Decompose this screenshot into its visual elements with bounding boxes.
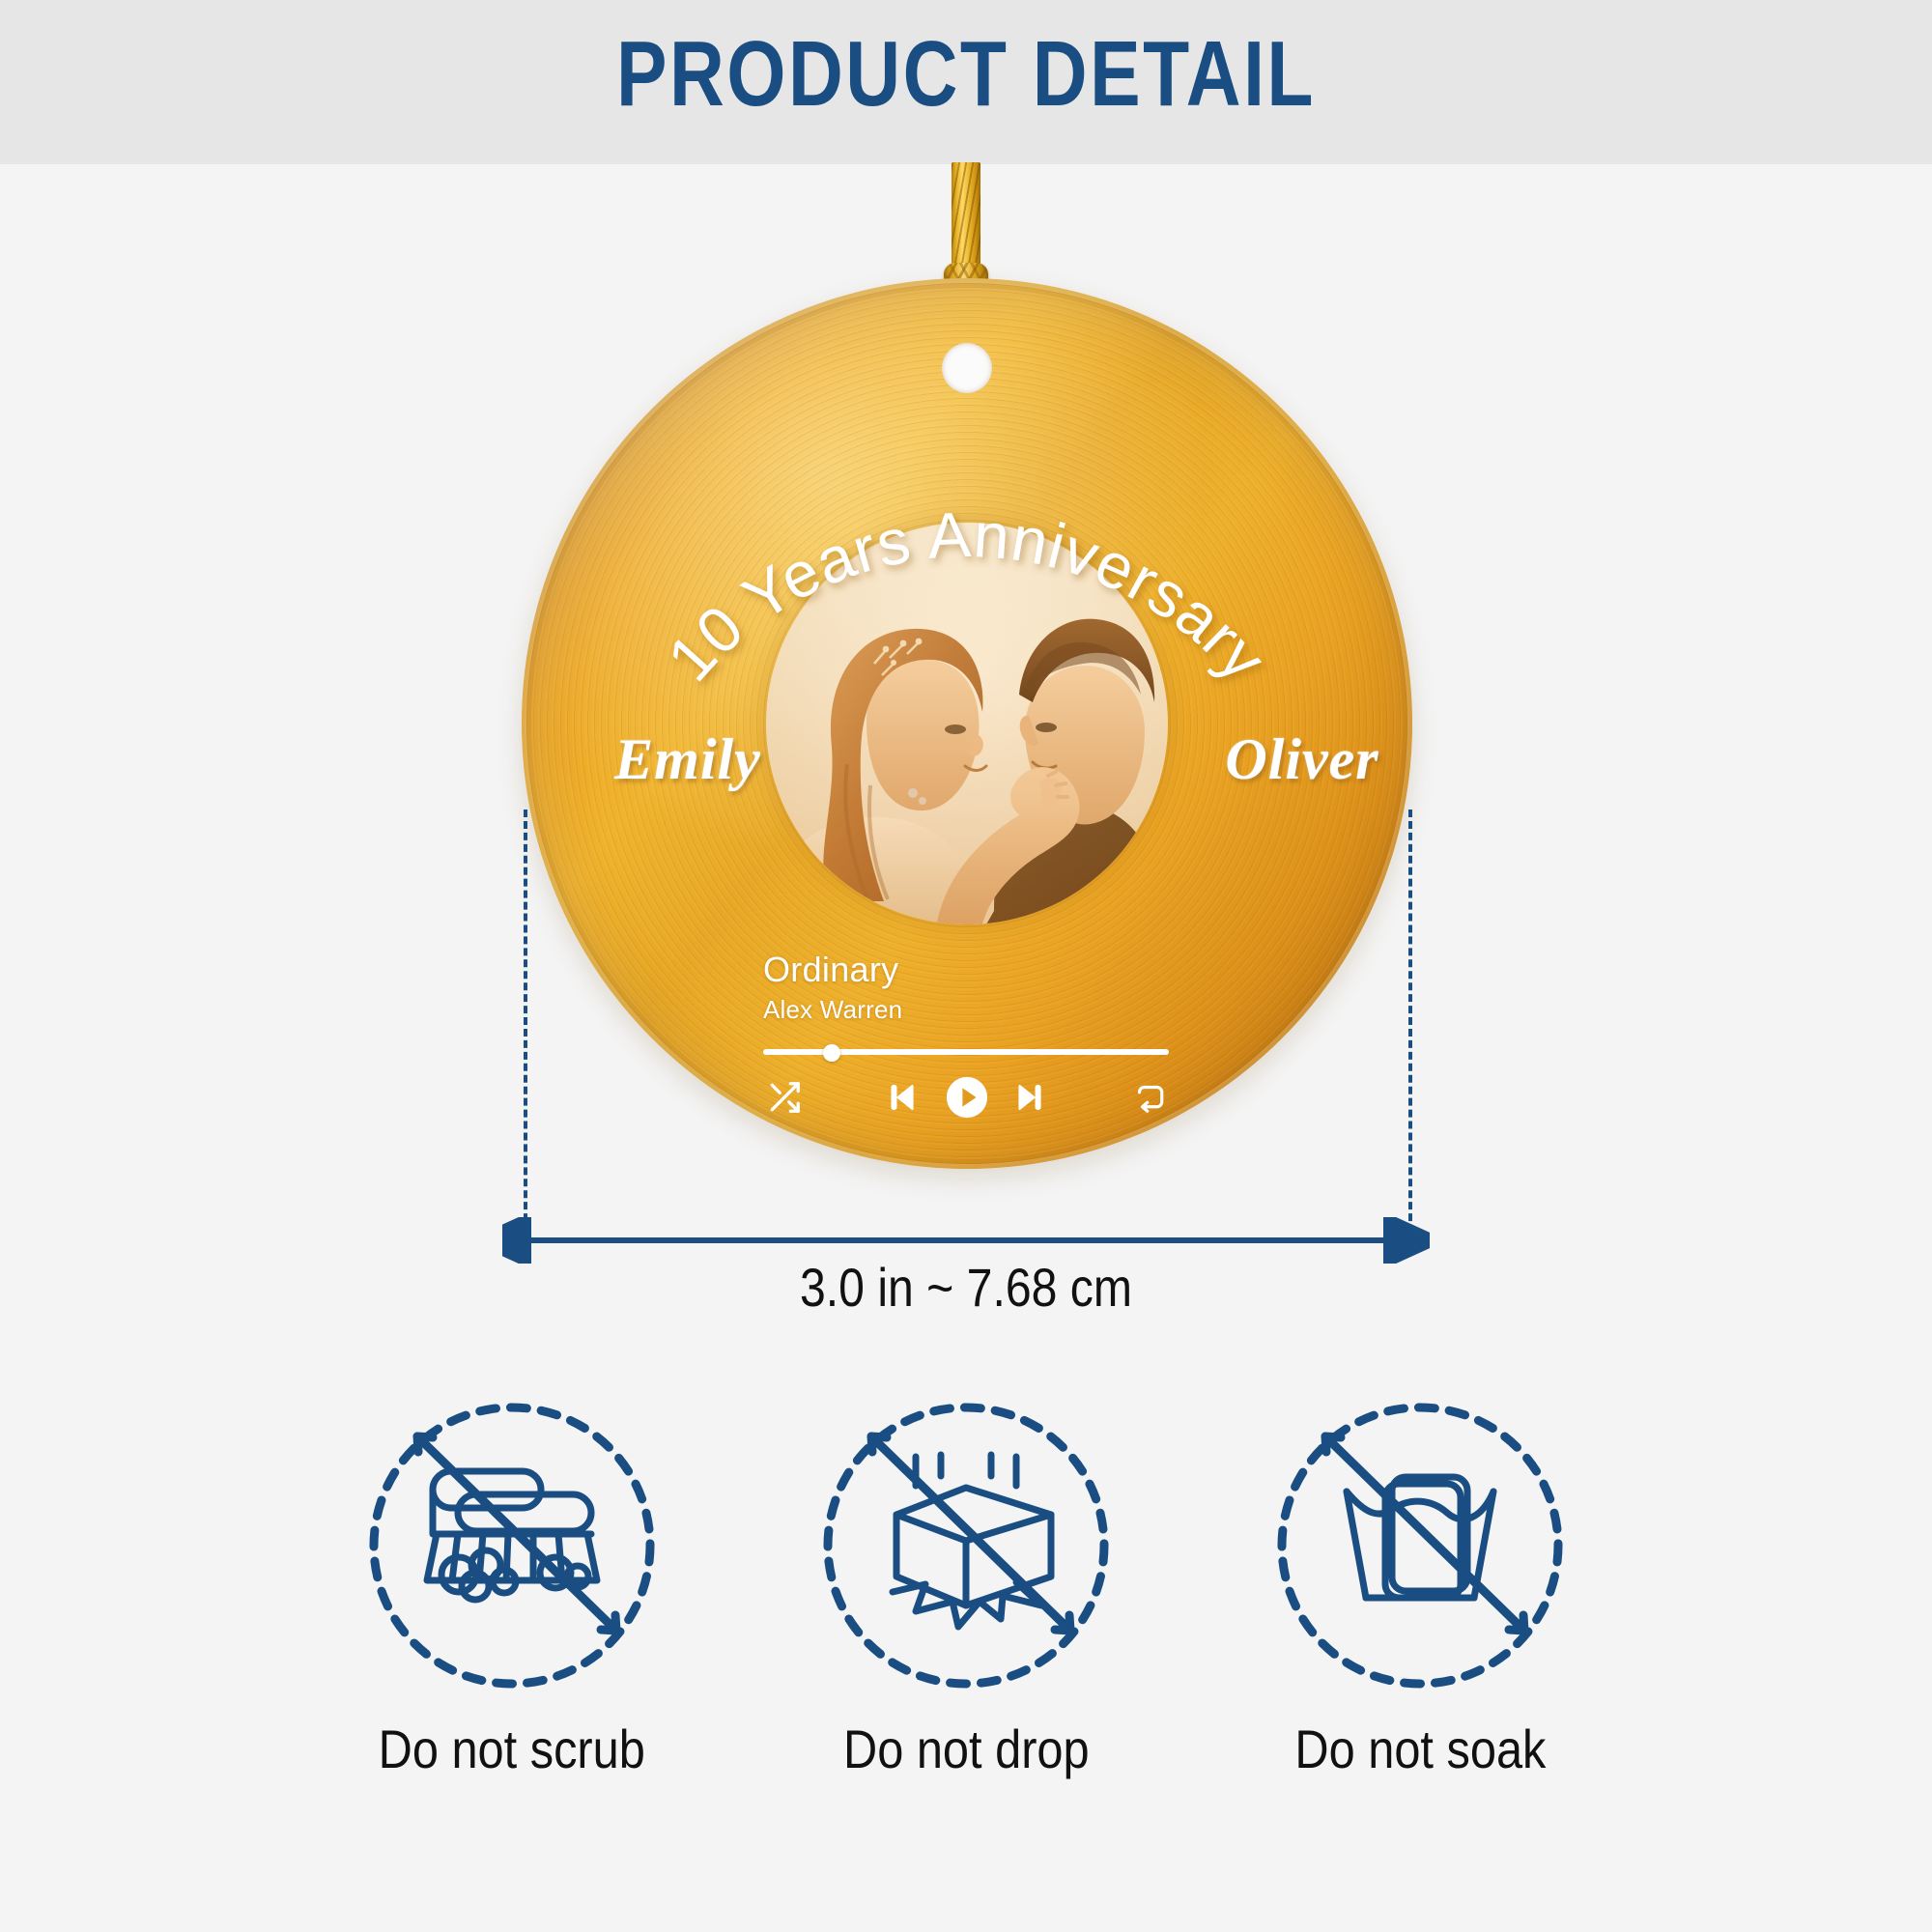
no-drop-icon xyxy=(811,1391,1121,1700)
care-item-no-soak: Do not soak xyxy=(1193,1391,1647,1780)
partner-name-left: Emily xyxy=(591,726,784,793)
repeat-icon[interactable] xyxy=(1128,1075,1171,1120)
care-instructions: Do not scrub xyxy=(0,1391,1932,1845)
progress-knob[interactable] xyxy=(823,1044,840,1062)
dimension-label: 3.0 in ~ 7.68 cm xyxy=(551,1256,1381,1319)
player-controls xyxy=(763,1075,1169,1120)
no-scrub-icon xyxy=(357,1391,667,1700)
care-label: Do not drop xyxy=(843,1718,1090,1780)
progress-slider[interactable] xyxy=(763,1044,1169,1060)
care-label: Do not soak xyxy=(1294,1718,1546,1780)
product-detail-page: PRODUCT DETAIL xyxy=(0,0,1932,1932)
dimension-guide-left xyxy=(524,810,527,1244)
song-artist: Alex Warren xyxy=(763,995,1169,1025)
ornament-hole xyxy=(942,343,992,393)
care-item-no-drop: Do not drop xyxy=(739,1391,1193,1780)
music-player: Ordinary Alex Warren xyxy=(763,952,1169,1120)
couple-photo xyxy=(766,523,1168,924)
care-label: Do not scrub xyxy=(379,1718,645,1780)
partner-name-right: Oliver xyxy=(1206,726,1399,793)
previous-track-icon[interactable] xyxy=(881,1075,923,1120)
dimension-guide-right xyxy=(1408,810,1412,1244)
shuffle-icon[interactable] xyxy=(763,1075,806,1120)
care-item-no-scrub: Do not scrub xyxy=(285,1391,739,1780)
play-icon[interactable] xyxy=(945,1075,989,1120)
no-soak-icon xyxy=(1265,1391,1575,1700)
next-track-icon[interactable] xyxy=(1009,1075,1051,1120)
song-title: Ordinary xyxy=(763,952,1169,988)
ornament-preview: 10 Years Anniversary Emily Oliver Ordina… xyxy=(0,0,1932,1256)
